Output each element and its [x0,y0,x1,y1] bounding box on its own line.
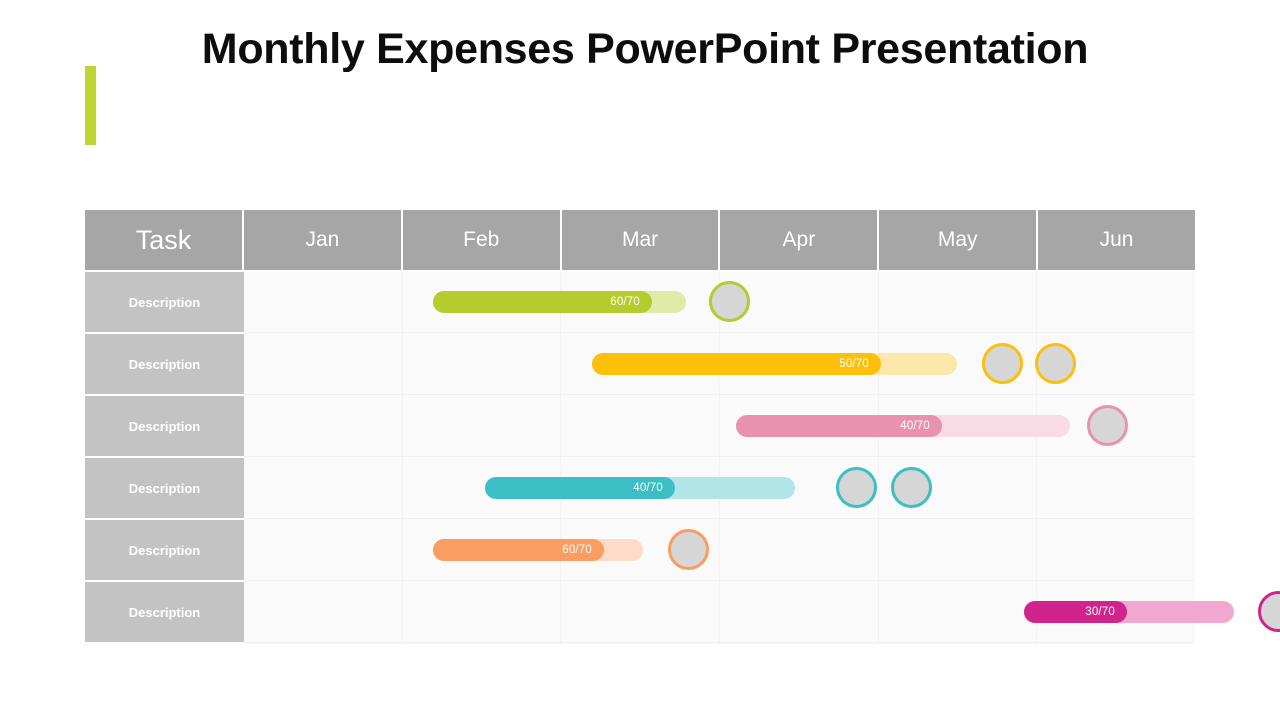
row-separator [244,394,1195,395]
gantt-bar-value: 60/70 [610,296,640,308]
milestone-marker-circle[interactable] [891,467,932,508]
gantt-bar-fill[interactable]: 30/70 [1024,601,1127,623]
row-separator [244,332,1195,333]
row-separator [244,580,1195,581]
table-row: Description30/70 [85,582,1195,642]
gantt-bar-track[interactable]: 50/70 [592,353,957,375]
row-label-description: Description [85,458,244,518]
milestone-marker-circle[interactable] [1035,343,1076,384]
table-row: Description50/70 [85,334,1195,394]
column-header-task: Task [85,210,244,270]
row-label-description: Description [85,396,244,456]
title-accent-bar [85,66,96,145]
row-separator [244,456,1195,457]
column-header-feb: Feb [403,210,562,270]
row-label-description: Description [85,272,244,332]
gantt-bar-value: 60/70 [562,544,592,556]
table-row: Description40/70 [85,396,1195,456]
gantt-bar-track[interactable]: 40/70 [736,415,1070,437]
table-row: Description40/70 [85,458,1195,518]
row-separator [244,642,1195,643]
milestone-marker-circle[interactable] [982,343,1023,384]
column-header-apr: Apr [720,210,879,270]
column-header-mar: Mar [562,210,721,270]
gantt-bar-track[interactable]: 60/70 [433,539,643,561]
gantt-bar-value: 40/70 [633,482,663,494]
milestone-marker-circle[interactable] [1087,405,1128,446]
row-label-description: Description [85,520,244,580]
milestone-marker-circle[interactable] [709,281,750,322]
milestone-marker-circle[interactable] [836,467,877,508]
milestone-marker-circle[interactable] [668,529,709,570]
column-header-jan: Jan [244,210,403,270]
gantt-bar-fill[interactable]: 40/70 [736,415,942,437]
gantt-bar-value: 30/70 [1085,606,1115,618]
row-separator [244,518,1195,519]
gantt-bar-value: 50/70 [839,358,869,370]
gantt-bar-value: 40/70 [900,420,930,432]
gantt-chart-table: Task Jan Feb Mar Apr May Jun Description… [85,210,1195,644]
table-row: Description60/70 [85,272,1195,332]
row-label-description: Description [85,334,244,394]
gantt-bar-track[interactable]: 30/70 [1024,601,1234,623]
table-row: Description60/70 [85,520,1195,580]
row-label-description: Description [85,582,244,642]
gantt-bar-fill[interactable]: 60/70 [433,539,604,561]
column-header-jun: Jun [1038,210,1195,270]
gantt-bar-fill[interactable]: 40/70 [485,477,675,499]
gantt-bar-track[interactable]: 40/70 [485,477,795,499]
gantt-bar-track[interactable]: 60/70 [433,291,686,313]
table-header-row: Task Jan Feb Mar Apr May Jun [85,210,1195,270]
table-body: Description60/70Description50/70Descript… [85,272,1195,644]
milestone-marker-circle[interactable] [1258,591,1280,632]
page-title: Monthly Expenses PowerPoint Presentation [110,26,1180,73]
gantt-bar-fill[interactable]: 60/70 [433,291,652,313]
column-header-may: May [879,210,1038,270]
gantt-bar-fill[interactable]: 50/70 [592,353,881,375]
